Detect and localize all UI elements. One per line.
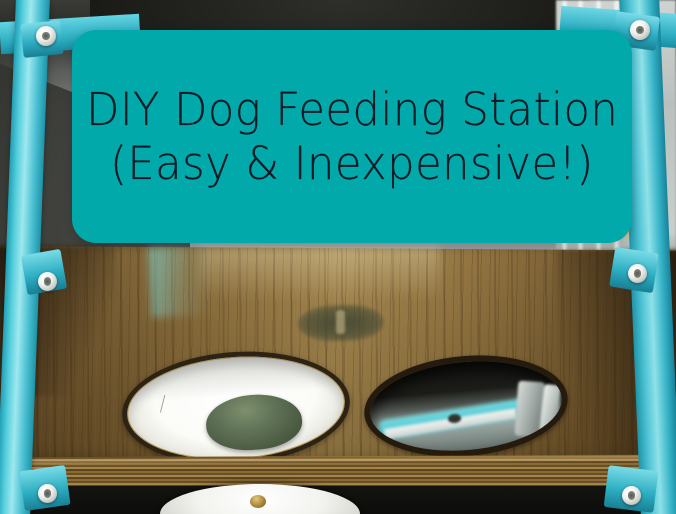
title-line-1: DIY Dog Feeding Station — [86, 86, 618, 134]
crate-bolt-right-upper — [628, 264, 647, 283]
screenshot-canvas: DIY Dog Feeding Station (Easy & Inexpens… — [0, 0, 676, 514]
title-line-2: (Easy & Inexpensive!) — [110, 140, 594, 188]
crate-bolt-left-lower — [38, 484, 57, 503]
crate-bolt-right-top — [630, 20, 650, 40]
brass-screw — [250, 495, 266, 508]
crate-bolt-left-top — [36, 26, 56, 46]
crate-bolt-left-upper — [38, 272, 57, 291]
stain-light-streak — [336, 310, 345, 334]
crate-bolt-right-lower — [622, 486, 641, 505]
shelf-highlight — [200, 246, 440, 300]
title-card: DIY Dog Feeding Station (Easy & Inexpens… — [72, 30, 632, 243]
shelf-teal-reflection — [148, 244, 212, 317]
